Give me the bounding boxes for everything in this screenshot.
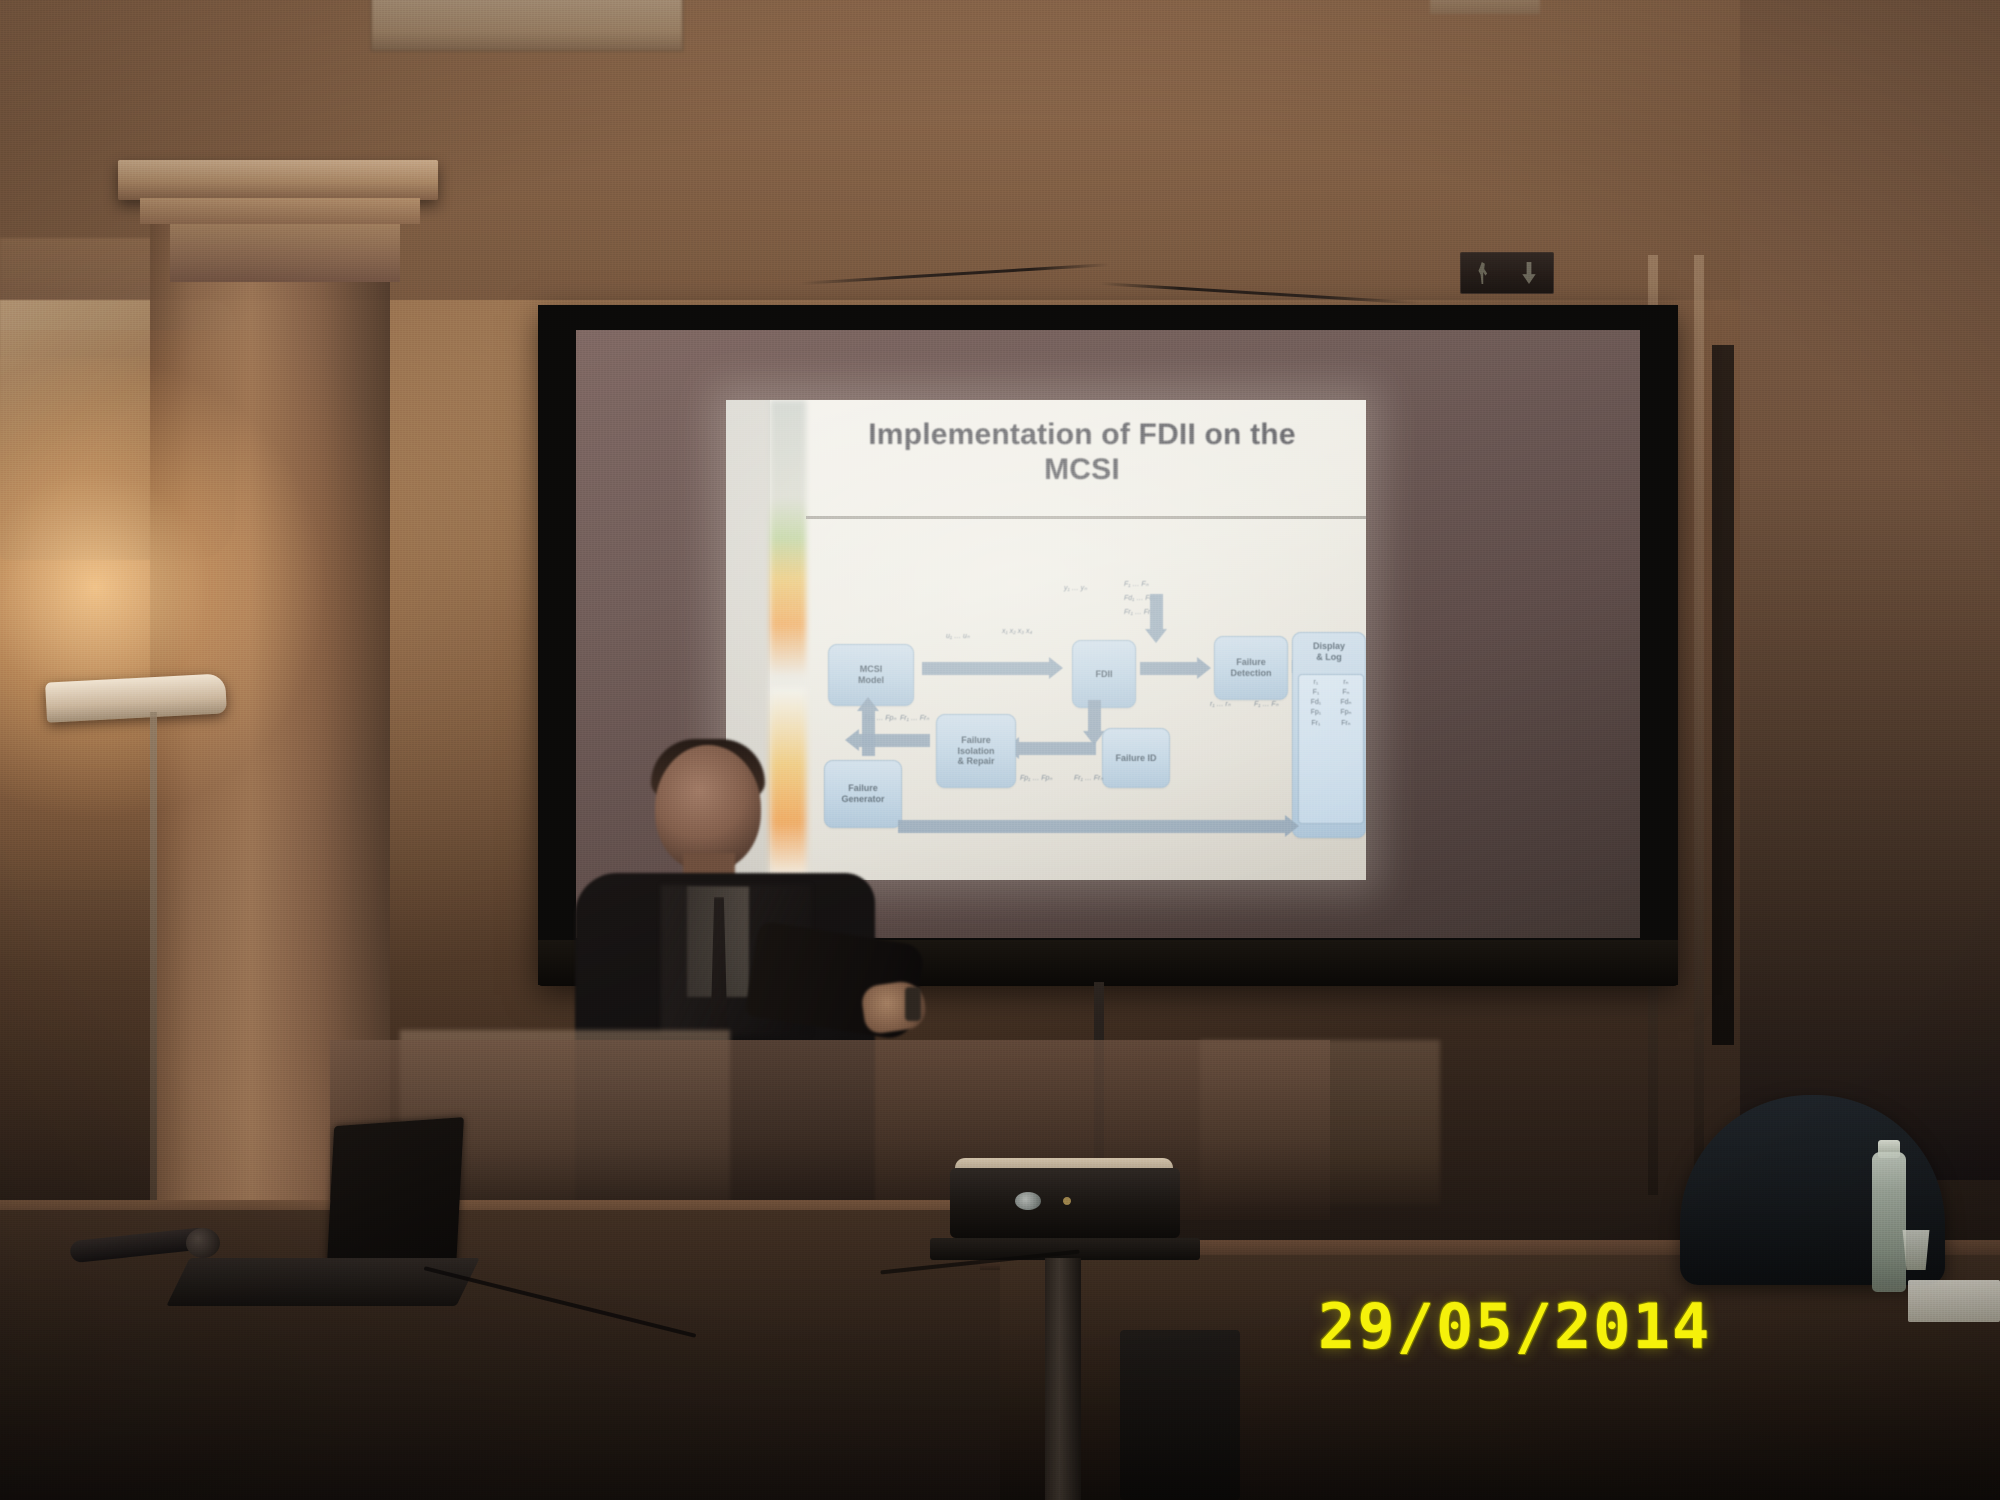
diagram-arrow-fdi-down [1088, 700, 1101, 732]
diagram-signal-label: Fr₁ … Frₙ [900, 714, 929, 722]
cell: Fₙ [1342, 688, 1349, 698]
dark-wall-strip [1712, 345, 1734, 1045]
exit-sign [1460, 252, 1554, 294]
ceiling-fresco-panel [370, 0, 684, 52]
diagram-signal-label: r₁ … rₙ [1210, 700, 1231, 708]
diagram-signal-label: Fr₁ … Frₙ [1074, 774, 1103, 782]
slide-sidebar-accent-upper [770, 400, 806, 688]
presenter-wristwatch [905, 987, 921, 1021]
projector-status-led [1063, 1197, 1071, 1205]
diagram-arrow-down [1150, 594, 1163, 630]
diagram-box-failure-isolation: Failure Isolation & Repair [936, 714, 1016, 788]
table-row: Fp₁Fpₙ [1301, 708, 1361, 718]
cell: Fpₙ [1340, 708, 1351, 718]
camera-datestamp: 29/05/2014 [1318, 1290, 1711, 1363]
running-person-icon [1477, 262, 1489, 284]
pilaster-capital-low [170, 224, 400, 282]
diagram-signal-label: F₁ … Fₙ [1254, 700, 1278, 708]
diagram-arrow-feedback-bus [898, 820, 1286, 833]
back-table [330, 1040, 1330, 1220]
projector-shelf [930, 1238, 1200, 1260]
table-row: F₁Fₙ [1301, 688, 1361, 698]
pilaster-capital-mid [140, 198, 420, 224]
photo-scene: Implementation of FDII on the MCSI y₁ … … [0, 0, 2000, 1500]
table-row: r₁rₙ [1301, 678, 1361, 688]
cell: Fdₙ [1340, 698, 1351, 708]
table-row: Fd₁Fdₙ [1301, 698, 1361, 708]
diagram-arrow-fdi-to-detection [1140, 662, 1198, 675]
cell: Frₙ [1341, 719, 1350, 729]
projector-lens [1015, 1192, 1041, 1210]
diagram-box-failure-id: Failure ID [1102, 728, 1170, 788]
cell: Fd₁ [1311, 698, 1322, 708]
ceiling-fresco-panel-right [1430, 0, 1540, 14]
floor-equipment-box [1120, 1330, 1240, 1500]
diagram-signal-label: Fr₁ … Frₙ [1124, 608, 1153, 616]
laptop-keyboard-base [166, 1258, 479, 1306]
curtain-fold [1694, 255, 1704, 1195]
cell: Fp₁ [1311, 708, 1322, 718]
down-arrow-icon [1521, 262, 1537, 284]
diagram-signal-label: Fp₁ … Fpₙ [1020, 774, 1052, 782]
diagram-arrow-id-to-isolation [1018, 742, 1096, 755]
microphone-head [186, 1228, 220, 1258]
water-bottle [1872, 1152, 1906, 1292]
slide-title-line1: Implementation of FDII on the [812, 418, 1352, 453]
cell: Fr₁ [1311, 719, 1320, 729]
diagram-signal-label: y₁ … yₙ [1064, 584, 1087, 592]
diagram-signal-label: x₁ x₂ x₃ x₄ [1002, 628, 1032, 635]
lamp-stand-pole [150, 712, 157, 1242]
cell: F₁ [1313, 688, 1320, 698]
diagram-display-table: r₁rₙ F₁Fₙ Fd₁Fdₙ Fp₁Fpₙ Fr₁Frₙ [1298, 674, 1364, 824]
diagram-arrow-mcsi-to-fdi [922, 662, 1050, 675]
diagram-signal-label: F₁ … Fₙ [1124, 580, 1148, 588]
diagram-box-fdi: FDII [1072, 640, 1136, 708]
projector-stand [1045, 1258, 1081, 1500]
slide-title-divider [806, 516, 1366, 519]
pilaster-capital-top [118, 160, 438, 200]
cell: r₁ [1314, 678, 1319, 688]
diagram-box-failure-detection: Failure Detection [1214, 636, 1288, 700]
right-wall [1740, 0, 2000, 1180]
cell: rₙ [1343, 678, 1348, 688]
slide-title-line2: MCSI [812, 453, 1352, 488]
diagram-signal-label: u₁ … uₙ [946, 632, 970, 640]
slide-title: Implementation of FDII on the MCSI [812, 418, 1352, 488]
table-row: Fr₁Frₙ [1301, 719, 1361, 729]
table-nameplate [1908, 1280, 2000, 1322]
